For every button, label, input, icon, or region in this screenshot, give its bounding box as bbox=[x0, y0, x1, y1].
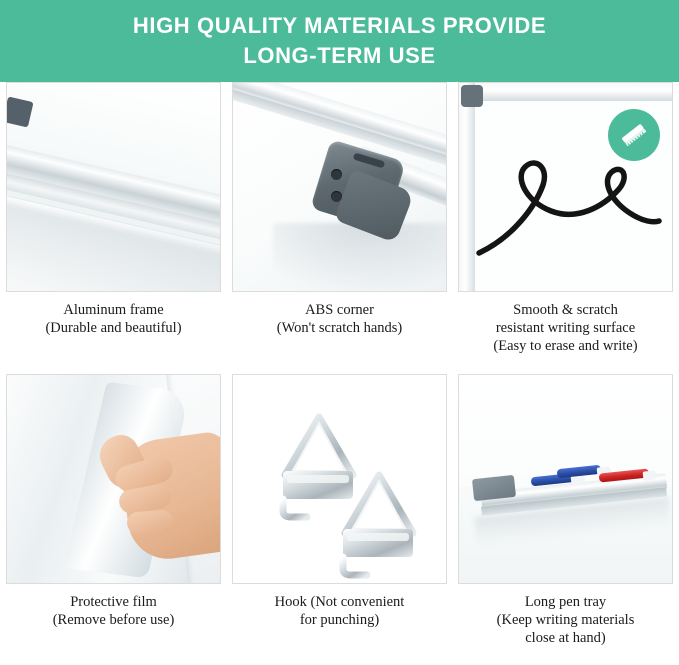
caption-line: Protective film bbox=[6, 593, 221, 611]
caption-line: ABS corner bbox=[232, 301, 447, 319]
feature-image-abs-corner bbox=[232, 82, 447, 292]
abs-corner-screw-hole bbox=[331, 191, 342, 202]
caption-line: (Keep writing materials bbox=[458, 611, 673, 629]
caption-line: Smooth & scratch bbox=[458, 301, 673, 319]
scribble-icon bbox=[473, 141, 663, 271]
feature-image-hook bbox=[232, 374, 447, 584]
feature-card-writing-surface: Smooth & scratch resistant writing surfa… bbox=[458, 82, 673, 374]
caption-pen-tray: Long pen tray (Keep writing materials cl… bbox=[458, 593, 673, 647]
feature-card-hook: Hook (Not convenient for punching) bbox=[232, 374, 447, 665]
hook-icon bbox=[333, 471, 425, 581]
header-banner: HIGH QUALITY MATERIALS PROVIDE LONG-TERM… bbox=[0, 0, 679, 82]
caption-line: close at hand) bbox=[458, 629, 673, 647]
banner-title-line-2: LONG-TERM USE bbox=[243, 41, 435, 71]
feature-row-1: Aluminum frame (Durable and beautiful) bbox=[0, 82, 679, 374]
caption-line: Hook (Not convenient bbox=[232, 593, 447, 611]
caption-line: Aluminum frame bbox=[6, 301, 221, 319]
caption-abs-corner: ABS corner (Won't scratch hands) bbox=[232, 301, 447, 337]
caption-line: for punching) bbox=[232, 611, 447, 629]
feature-image-aluminum-frame bbox=[6, 82, 221, 292]
caption-line: Long pen tray bbox=[458, 593, 673, 611]
pen-tray-bracket bbox=[472, 475, 516, 501]
caption-writing-surface: Smooth & scratch resistant writing surfa… bbox=[458, 301, 673, 355]
caption-line: resistant writing surface bbox=[458, 319, 673, 337]
abs-corner-screw-hole bbox=[331, 169, 342, 180]
feature-card-aluminum-frame: Aluminum frame (Durable and beautiful) bbox=[6, 82, 221, 374]
marker-scribble bbox=[473, 141, 663, 276]
feature-grid: Aluminum frame (Durable and beautiful) bbox=[0, 82, 679, 665]
caption-aluminum-frame: Aluminum frame (Durable and beautiful) bbox=[6, 301, 221, 337]
feature-card-protective-film: Protective film (Remove before use) bbox=[6, 374, 221, 665]
banner-title-line-1: HIGH QUALITY MATERIALS PROVIDE bbox=[133, 11, 546, 41]
corner-drop-shadow bbox=[273, 223, 447, 292]
caption-line: (Durable and beautiful) bbox=[6, 319, 221, 337]
feature-card-pen-tray: Long pen tray (Keep writing materials cl… bbox=[458, 374, 673, 665]
feature-card-abs-corner: ABS corner (Won't scratch hands) bbox=[232, 82, 447, 374]
board-corner-cap bbox=[461, 85, 483, 107]
product-feature-infographic: HIGH QUALITY MATERIALS PROVIDE LONG-TERM… bbox=[0, 0, 679, 665]
board-frame-top bbox=[459, 83, 672, 101]
caption-line: (Remove before use) bbox=[6, 611, 221, 629]
feature-image-protective-film bbox=[6, 374, 221, 584]
caption-line: (Won't scratch hands) bbox=[232, 319, 447, 337]
feature-row-2: Protective film (Remove before use) bbox=[0, 374, 679, 665]
caption-protective-film: Protective film (Remove before use) bbox=[6, 593, 221, 629]
feature-image-writing-surface bbox=[458, 82, 673, 292]
caption-line: (Easy to erase and write) bbox=[458, 337, 673, 355]
caption-hook: Hook (Not convenient for punching) bbox=[232, 593, 447, 629]
hook-lower bbox=[333, 471, 425, 581]
feature-image-pen-tray bbox=[458, 374, 673, 584]
finger bbox=[126, 509, 173, 534]
